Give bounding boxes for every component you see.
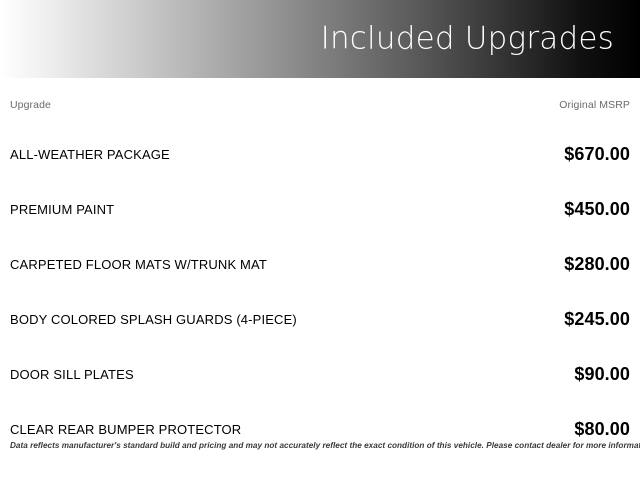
table-row: PREMIUM PAINT $450.00 xyxy=(10,182,630,237)
included-upgrades-page: Included Upgrades Upgrade Original MSRP … xyxy=(0,0,640,480)
upgrades-table: Upgrade Original MSRP ALL-WEATHER PACKAG… xyxy=(0,78,640,457)
table-column-headers: Upgrade Original MSRP xyxy=(10,78,630,111)
upgrade-name: CARPETED FLOOR MATS W/TRUNK MAT xyxy=(10,257,267,272)
disclaimer-text: Data reflects manufacturer's standard bu… xyxy=(10,441,630,451)
table-row: BODY COLORED SPLASH GUARDS (4-PIECE) $24… xyxy=(10,292,630,347)
upgrade-price: $90.00 xyxy=(574,364,630,385)
page-title: Included Upgrades xyxy=(321,24,614,55)
table-rows: ALL-WEATHER PACKAGE $670.00 PREMIUM PAIN… xyxy=(10,127,630,457)
upgrade-price: $450.00 xyxy=(564,199,630,220)
upgrade-price: $245.00 xyxy=(564,309,630,330)
upgrade-name: DOOR SILL PLATES xyxy=(10,367,134,382)
table-row: CARPETED FLOOR MATS W/TRUNK MAT $280.00 xyxy=(10,237,630,292)
header-banner: Included Upgrades xyxy=(0,0,640,78)
table-row: ALL-WEATHER PACKAGE $670.00 xyxy=(10,127,630,182)
upgrade-name: PREMIUM PAINT xyxy=(10,202,114,217)
upgrade-name: BODY COLORED SPLASH GUARDS (4-PIECE) xyxy=(10,312,297,327)
upgrade-price: $280.00 xyxy=(564,254,630,275)
upgrade-name: ALL-WEATHER PACKAGE xyxy=(10,147,170,162)
upgrade-price: $80.00 xyxy=(574,419,630,440)
upgrade-name: CLEAR REAR BUMPER PROTECTOR xyxy=(10,422,241,437)
footer: Data reflects manufacturer's standard bu… xyxy=(10,441,630,451)
table-row: DOOR SILL PLATES $90.00 xyxy=(10,347,630,402)
upgrade-price: $670.00 xyxy=(564,144,630,165)
column-header-upgrade: Upgrade xyxy=(10,99,51,111)
column-header-original-msrp: Original MSRP xyxy=(559,99,630,111)
